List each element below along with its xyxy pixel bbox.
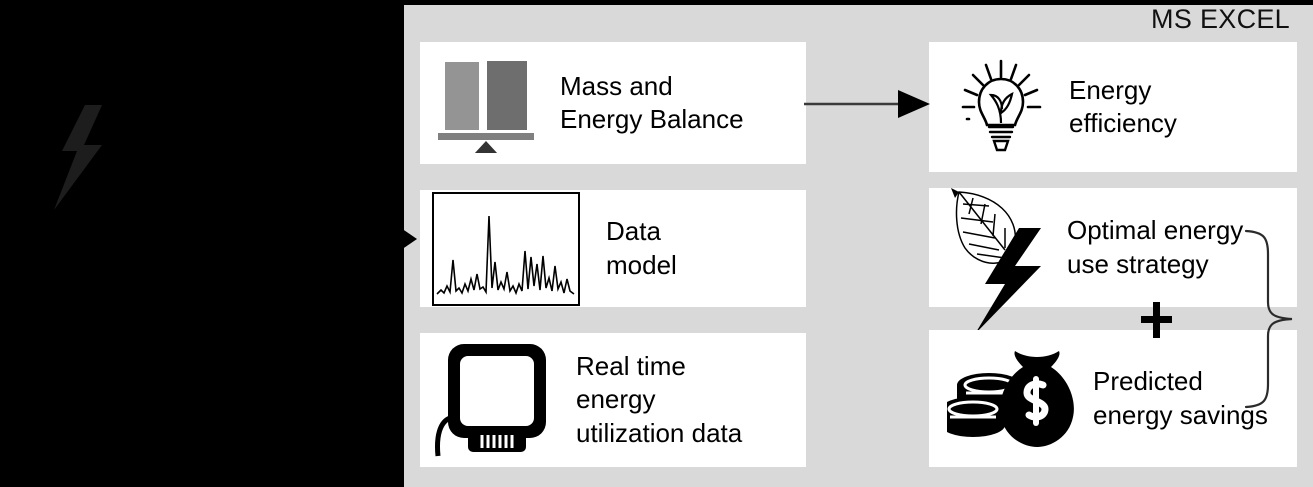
lightning-bolt-icon [50, 105, 110, 210]
curly-brace-right-icon [1242, 228, 1302, 410]
money-bag-coins-icon [947, 349, 1079, 449]
card-label: Mass and Energy Balance [560, 70, 744, 137]
ms-excel-panel: MS EXCEL Mass and Energy Balance Data mo… [404, 0, 1313, 487]
arrow-right-icon [398, 226, 418, 252]
top-divider [0, 0, 1313, 5]
card-label: Data model [606, 215, 677, 282]
card-label: Energy efficiency [1069, 74, 1177, 141]
arrow-right-icon [802, 88, 934, 120]
leaf-lightning-icon [949, 162, 1053, 334]
black-stage-background [0, 0, 404, 487]
balance-scale-icon [434, 53, 542, 153]
plus-operator [1140, 300, 1174, 340]
card-label: Optimal energy use strategy [1067, 214, 1243, 281]
card-label: Real time energy utilization data [576, 350, 742, 450]
lightbulb-leaf-icon [955, 57, 1047, 157]
card-real-time-energy-data[interactable]: Real time energy utilization data [420, 333, 806, 467]
card-energy-efficiency[interactable]: Energy efficiency [929, 42, 1297, 172]
card-mass-energy-balance[interactable]: Mass and Energy Balance [420, 42, 806, 164]
card-data-model[interactable]: Data model [420, 190, 806, 307]
page-title: MS EXCEL [1151, 4, 1290, 35]
spectrum-chart-icon [432, 192, 580, 306]
diagram-canvas: MS EXCEL Mass and Energy Balance Data mo… [0, 0, 1313, 487]
energy-meter-monitor-icon [434, 340, 560, 460]
